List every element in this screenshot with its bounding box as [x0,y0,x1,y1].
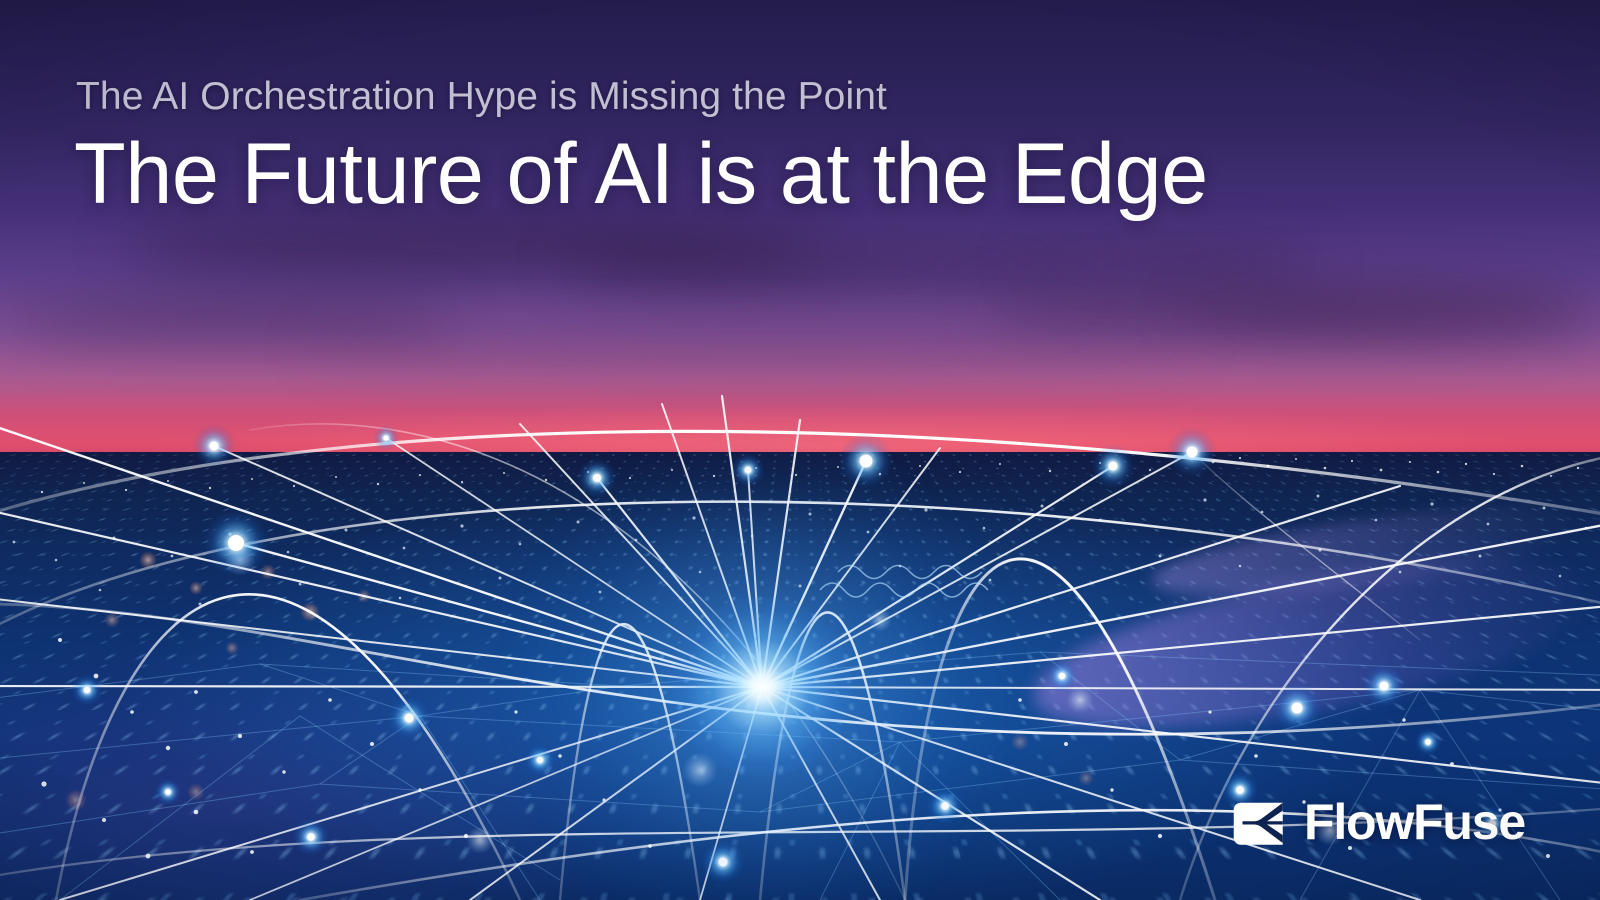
page-title: The Future of AI is at the Edge [74,131,1208,217]
network-node [1362,664,1406,708]
flowfuse-logo-mark [1232,794,1288,850]
network-node [292,818,330,856]
network-node [1414,728,1442,756]
network-node [192,424,236,468]
network-node [1167,427,1217,477]
hero-banner: The AI Orchestration Hype is Missing the… [0,0,1600,900]
flowfuse-logo[interactable]: FlowFuse [1232,794,1525,850]
network-node [154,778,182,806]
network-node [71,674,103,706]
network-node [1091,444,1135,488]
burst-core-glow [672,597,852,777]
network-node [1046,660,1078,692]
network-node [387,696,431,740]
flowfuse-wordmark: FlowFuse [1304,797,1525,847]
network-node [202,509,270,577]
network-node [373,425,399,451]
network-node [1272,683,1322,733]
hero-eyebrow: The AI Orchestration Hype is Missing the… [76,76,887,118]
